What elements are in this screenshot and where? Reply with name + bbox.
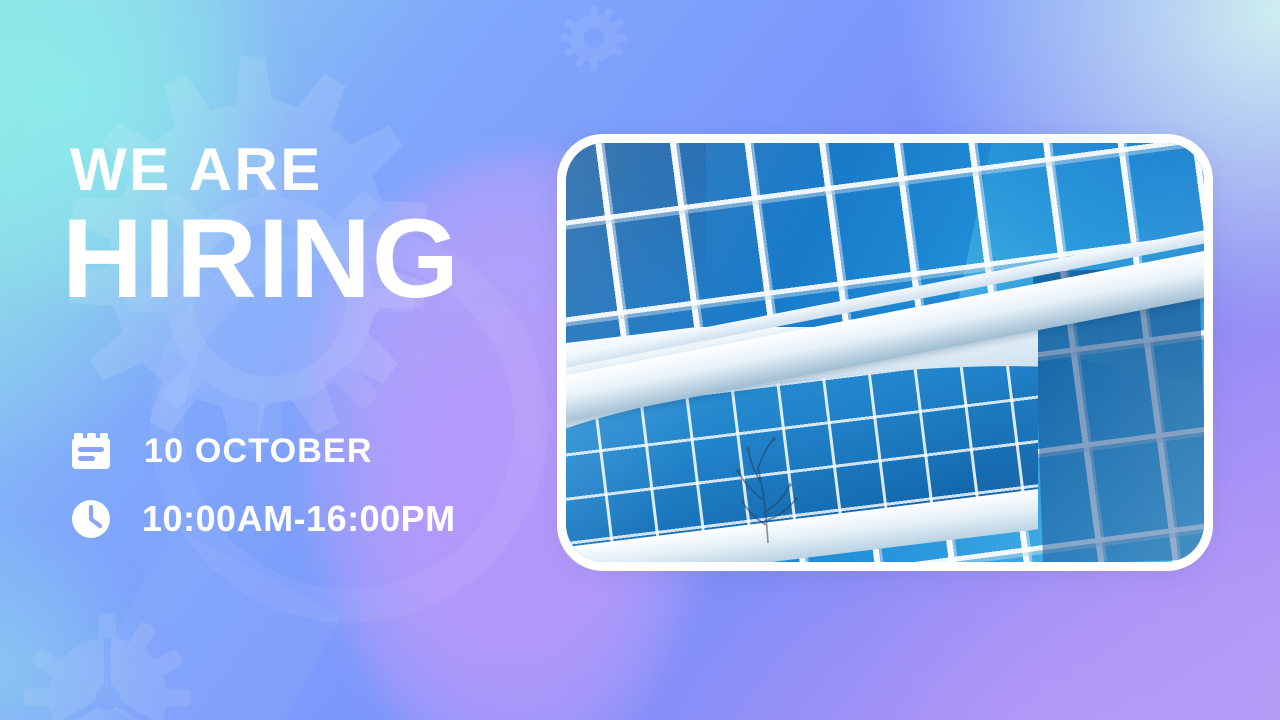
building-photo bbox=[566, 143, 1204, 562]
tree-branches-reflection bbox=[708, 413, 828, 543]
photo-card-frame bbox=[557, 134, 1213, 571]
calendar-icon bbox=[68, 428, 114, 474]
detail-row-date: 10 OCTOBER bbox=[68, 428, 456, 474]
date-label: 10 OCTOBER bbox=[144, 432, 373, 471]
hiring-poster: WE ARE HIRING 10 OCTOBER bbox=[0, 0, 1280, 720]
event-details: 10 OCTOBER 10:00AM-16:00PM bbox=[68, 428, 456, 564]
headline-top-line: WE ARE bbox=[70, 140, 460, 200]
time-label: 10:00AM-16:00PM bbox=[142, 498, 456, 540]
headline-group: WE ARE HIRING bbox=[62, 140, 460, 312]
headline-main-line: HIRING bbox=[62, 206, 460, 312]
clock-icon bbox=[68, 496, 114, 542]
detail-row-time: 10:00AM-16:00PM bbox=[68, 496, 456, 542]
